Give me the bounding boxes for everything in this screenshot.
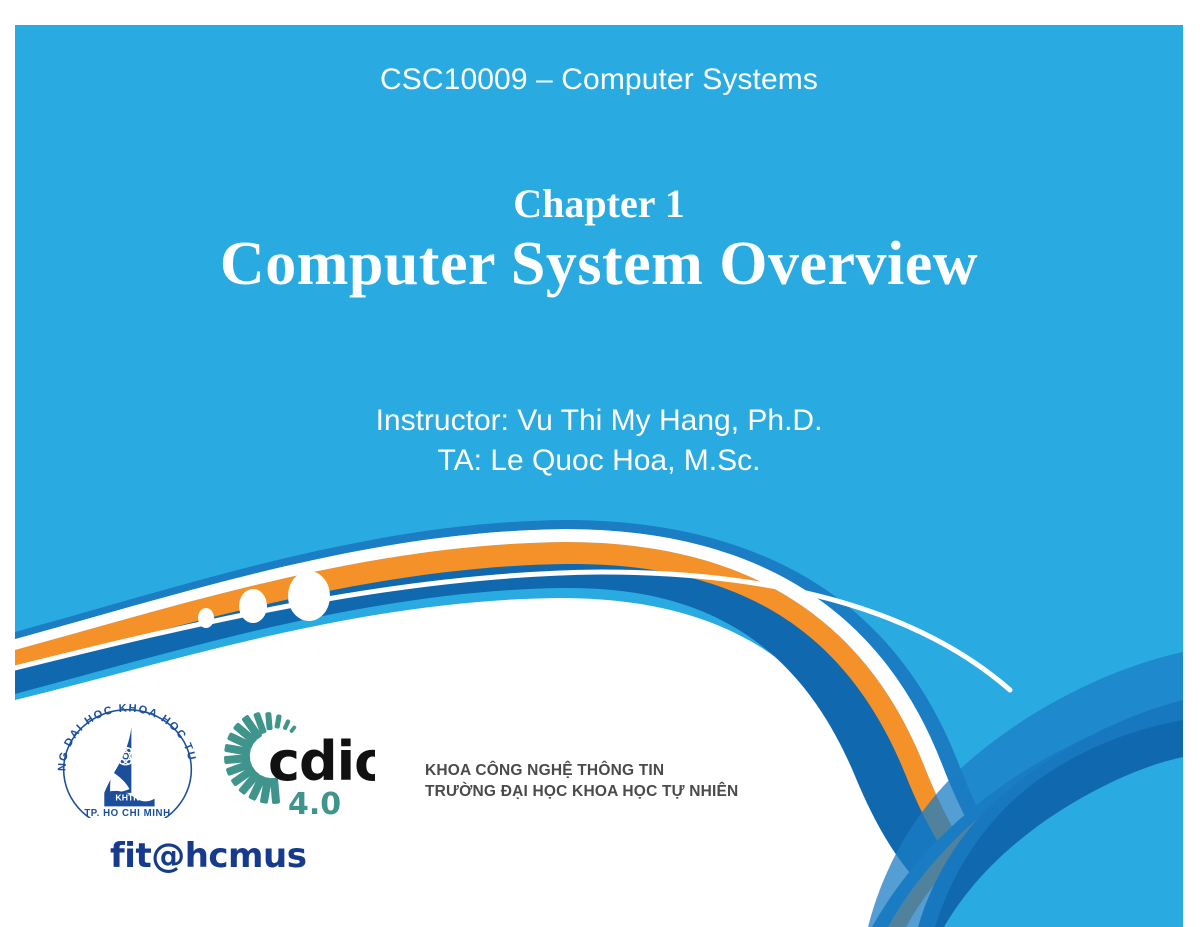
faculty-line-1: KHOA CÔNG NGHỆ THÔNG TIN [425,760,738,781]
cdio-version-label: 4.0 [288,787,341,822]
logo-khtn-text: KHTN [115,793,139,803]
slide-canvas: CSC10009 – Computer Systems Chapter 1 Co… [0,0,1200,927]
page-title: Computer System Overview [15,229,1183,300]
logo-atom-icon [117,747,134,766]
course-code-heading: CSC10009 – Computer Systems [15,63,1183,97]
hcmus-university-logo: TRUONG DAI HOC KHOA HOC TU NHIEN KHTN TP… [50,700,205,818]
faculty-line-2: TRƯỜNG ĐẠI HỌC KHOA HỌC TỰ NHIÊN [425,781,738,802]
cdio-wordmark: cdio [268,730,375,793]
faculty-name-block: KHOA CÔNG NGHỆ THÔNG TIN TRƯỜNG ĐẠI HỌC … [425,760,738,802]
instructor-line: Instructor: Vu Thi My Hang, Ph.D. [15,401,1183,441]
logo-city-text: TP. HO CHI MINH [84,808,170,818]
fit-hcmus-wordmark: fit@hcmus [110,836,306,876]
ta-line: TA: Le Quoc Hoa, M.Sc. [15,441,1183,481]
cdio-logo: cdio 4.0 [210,698,375,823]
staff-block: Instructor: Vu Thi My Hang, Ph.D. TA: Le… [15,401,1183,481]
chapter-label: Chapter 1 [15,180,1183,227]
